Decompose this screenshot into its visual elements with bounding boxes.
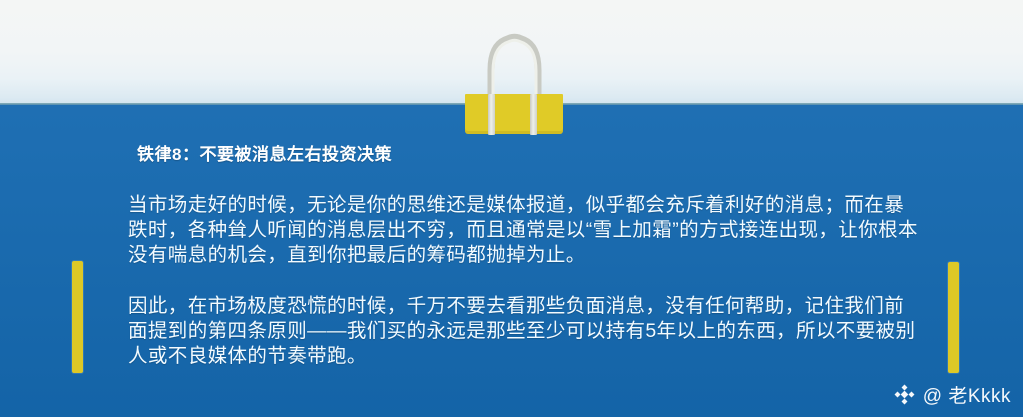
binder-clip-leg-left xyxy=(488,94,495,135)
diamond-logo-icon xyxy=(893,383,916,406)
binder-clip-leg-right xyxy=(530,94,537,135)
watermark-label: @ 老Kkkk xyxy=(923,381,1011,408)
rule-paragraph-2: 因此，在市场极度恐慌的时候，千万不要去看那些负面消息，没有任何帮助，记住我们前面… xyxy=(128,294,918,369)
rule-paragraph-1: 当市场走好的时候，无论是你的思维还是媒体报道，似乎都会充斥着利好的消息；而在暴跌… xyxy=(128,193,918,268)
accent-bar-left xyxy=(72,261,83,373)
accent-bar-right xyxy=(948,262,959,373)
binder-clip-body xyxy=(465,94,563,134)
screenshot-root: 铁律8：不要被消息左右投资决策 当市场走好的时候，无论是你的思维还是媒体报道，似… xyxy=(0,0,1023,417)
rule-title: 铁律8：不要被消息左右投资决策 xyxy=(128,140,918,165)
card-content: 铁律8：不要被消息左右投资决策 当市场走好的时候，无论是你的思维还是媒体报道，似… xyxy=(128,140,918,369)
watermark: @ 老Kkkk xyxy=(893,381,1011,408)
binder-clip-icon xyxy=(452,18,577,128)
